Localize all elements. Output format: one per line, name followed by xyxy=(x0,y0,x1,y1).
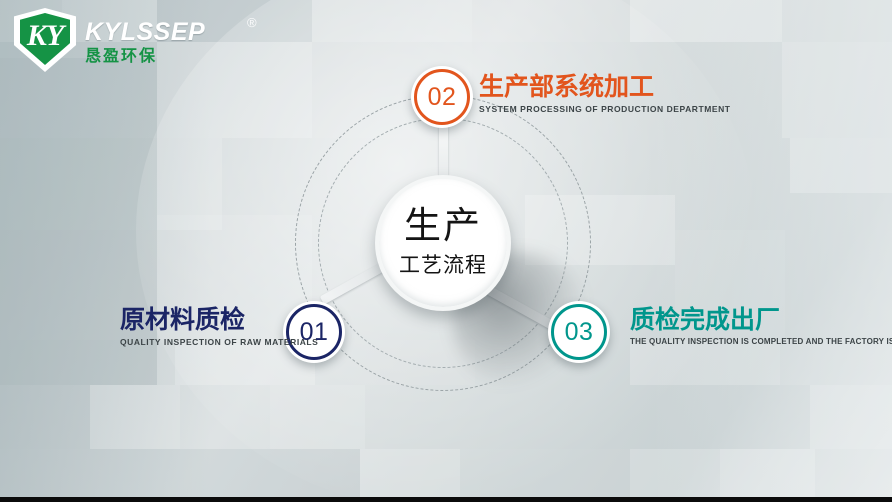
center-title-main: 生产 xyxy=(404,207,482,246)
node-03-number: 03 xyxy=(565,318,594,347)
node-02-number: 02 xyxy=(428,83,457,112)
bottom-letterbox-bar xyxy=(0,497,892,502)
node-03-label: 质检完成出厂 THE QUALITY INSPECTION IS COMPLET… xyxy=(630,306,892,346)
node-01-label: 原材料质检 QUALITY INSPECTION OF RAW MATERIAL… xyxy=(120,306,318,347)
center-circle: 生产 工艺流程 xyxy=(375,175,511,311)
node-02-title-en: SYSTEM PROCESSING OF PRODUCTION DEPARTME… xyxy=(479,104,731,114)
node-03[interactable]: 03 xyxy=(548,301,610,363)
slide-canvas: KY KYLSSEP ® 恳盈环保 生产 工艺流程 02 01 03 xyxy=(0,0,892,502)
node-03-title-en: THE QUALITY INSPECTION IS COMPLETED AND … xyxy=(630,337,892,346)
node-01-title-cn: 原材料质检 xyxy=(120,306,318,334)
node-02-label: 生产部系统加工 SYSTEM PROCESSING OF PRODUCTION … xyxy=(479,73,731,114)
center-title-sub: 工艺流程 xyxy=(399,249,487,279)
node-02-title-cn: 生产部系统加工 xyxy=(479,73,731,101)
node-02[interactable]: 02 xyxy=(411,66,473,128)
node-03-title-cn: 质检完成出厂 xyxy=(630,306,892,334)
process-flow-diagram: 生产 工艺流程 02 01 03 生产部系统加工 SYSTEM PROCESSI… xyxy=(0,0,892,502)
node-01-number: 01 xyxy=(300,318,329,347)
node-01-title-en: QUALITY INSPECTION OF RAW MATERIALS xyxy=(120,337,318,347)
